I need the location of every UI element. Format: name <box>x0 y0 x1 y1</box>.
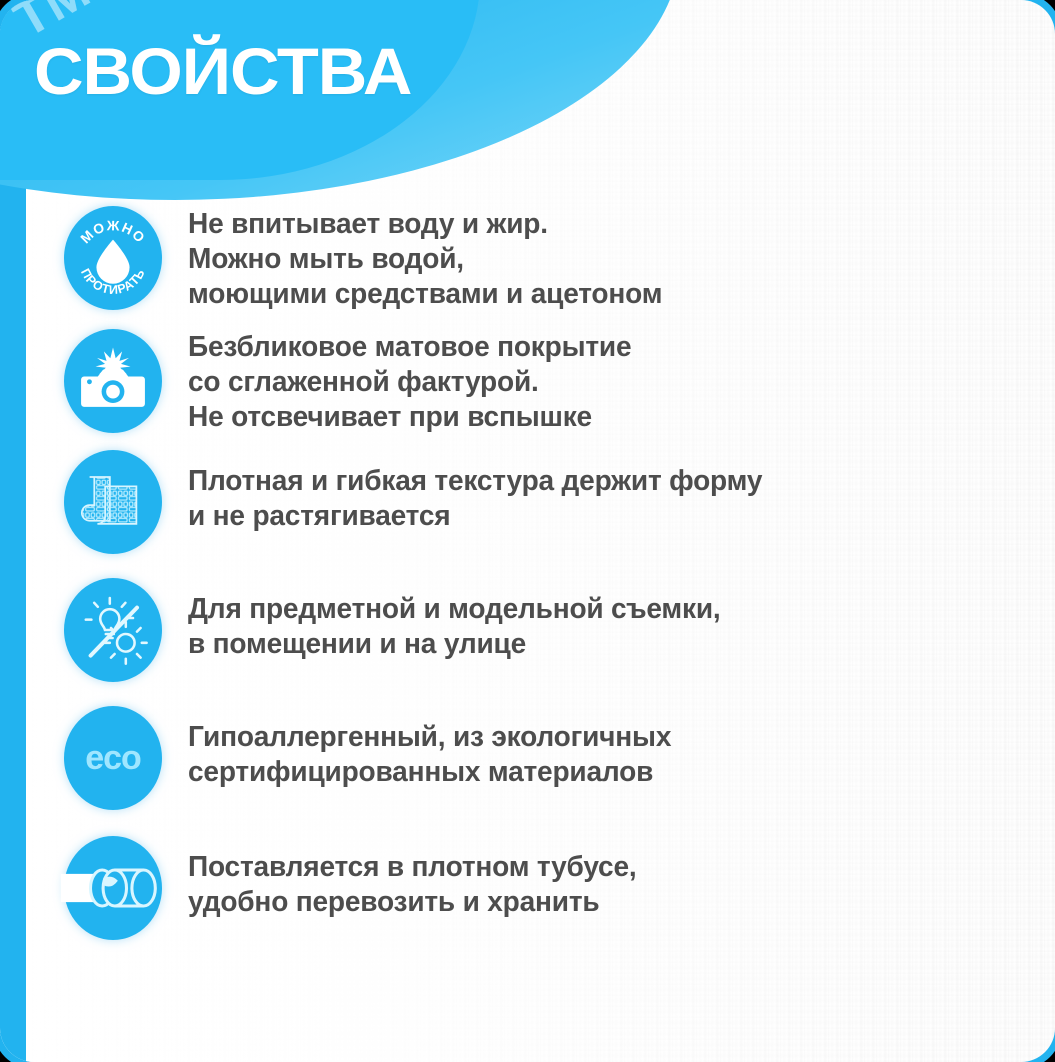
icon-container <box>60 328 166 434</box>
eco-icon-label: eco <box>85 741 141 775</box>
water-drop-wipeable-icon: МОЖНО ПРОТИРАТЬ <box>64 206 162 310</box>
feature-text: Гипоаллергенный, из экологичных сертифиц… <box>188 705 671 790</box>
icon-container: eco <box>60 705 166 811</box>
tube-case-icon <box>64 836 162 940</box>
fabric-roll-glyph <box>74 463 152 541</box>
fabric-texture-roll-icon <box>64 450 162 554</box>
list-item: eco Гипоаллергенный, из экологичных серт… <box>60 705 1055 811</box>
indoor-outdoor-glyph <box>73 590 153 670</box>
list-item: Поставляется в плотном тубусе, удобно пе… <box>60 835 1055 941</box>
icon-container <box>60 449 166 555</box>
eco-icon: eco <box>64 706 162 810</box>
feature-text: Не впитывает воду и жир. Можно мыть водо… <box>188 205 662 312</box>
icon-container <box>60 577 166 683</box>
feature-text: Для предметной и модельной съемки, в пом… <box>188 577 721 662</box>
feature-text: Безбликовое матовое покрытие со сглаженн… <box>188 328 631 435</box>
list-item: МОЖНО ПРОТИРАТЬ Не впитывает воду и жир.… <box>60 205 1055 312</box>
infographic-card: СВОЙСТВА ТМС МОЖНО П <box>0 0 1055 1062</box>
camera-flash-icon <box>64 329 162 433</box>
list-item: Плотная и гибкая текстура держит форму и… <box>60 449 1055 555</box>
icon-container: МОЖНО ПРОТИРАТЬ <box>60 205 166 311</box>
page-title: СВОЙСТВА <box>34 36 411 106</box>
water-drop-glyph: МОЖНО ПРОТИРАТЬ <box>67 212 159 304</box>
lightbulb-sun-indoor-outdoor-icon <box>64 578 162 682</box>
feature-text: Плотная и гибкая текстура держит форму и… <box>188 449 762 534</box>
tube-glyph <box>59 852 167 924</box>
icon-container <box>60 835 166 941</box>
list-item: Для предметной и модельной съемки, в пом… <box>60 577 1055 683</box>
camera-glyph <box>75 343 151 419</box>
feature-text: Поставляется в плотном тубусе, удобно пе… <box>188 835 636 920</box>
list-item: Безбликовое матовое покрытие со сглаженн… <box>60 328 1055 435</box>
feature-list: МОЖНО ПРОТИРАТЬ Не впитывает воду и жир.… <box>0 205 1055 953</box>
